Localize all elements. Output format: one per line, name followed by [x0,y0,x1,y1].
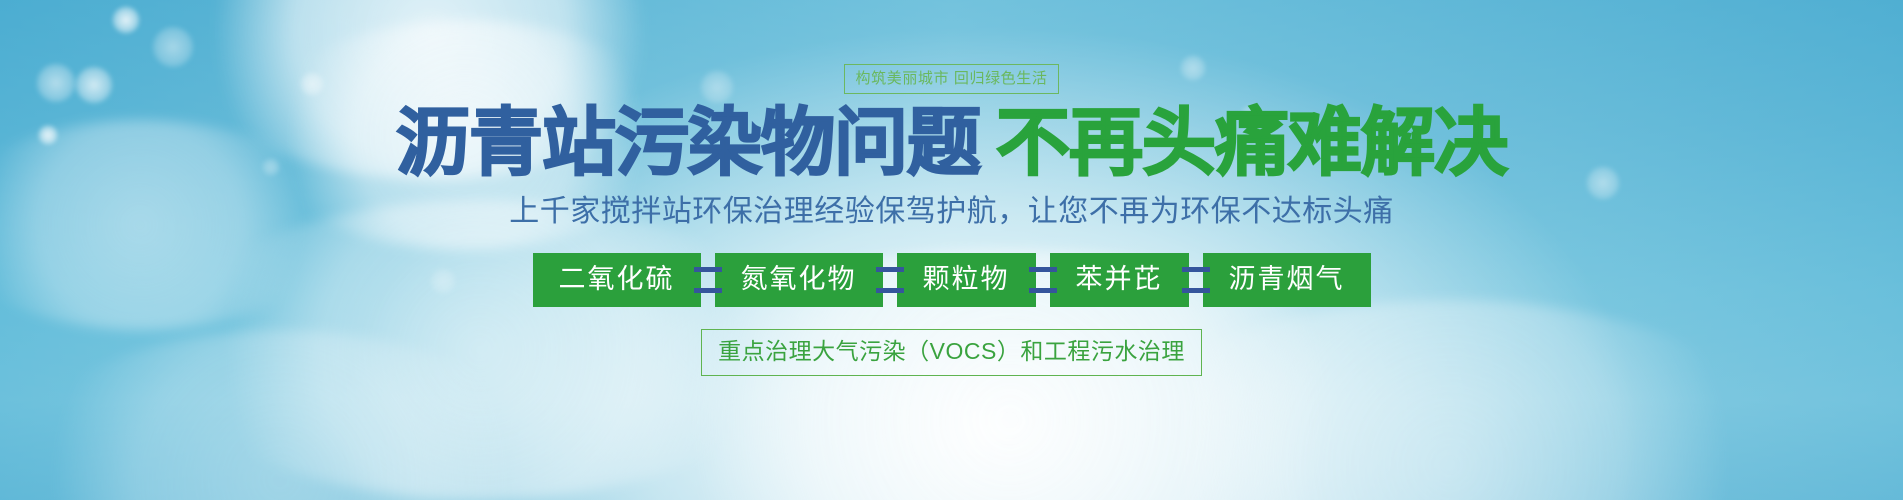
tag-item[interactable]: 苯并芘 [1050,253,1189,307]
headline-green-segment: 不再头痛难解决 [996,100,1507,186]
tag-item[interactable]: 氮氧化物 [715,253,883,307]
page-title: 沥青站污染物问题不再头痛难解决 [396,105,1507,182]
tag-separator [1189,253,1203,307]
pollutant-tag-strip: 二氧化硫 氮氧化物 颗粒物 苯并芘 沥青烟气 [533,253,1371,307]
tag-separator [1036,253,1050,307]
promo-banner: 构筑美丽城市 回归绿色生活 沥青站污染物问题不再头痛难解决 上千家搅拌站环保治理… [0,0,1903,500]
tag-separator [701,253,715,307]
tag-item[interactable]: 颗粒物 [897,253,1036,307]
banner-content: 构筑美丽城市 回归绿色生活 沥青站污染物问题不再头痛难解决 上千家搅拌站环保治理… [0,0,1903,500]
tag-item[interactable]: 二氧化硫 [533,253,701,307]
tag-separator [883,253,897,307]
footer-note-box: 重点治理大气污染（VOCS）和工程污水治理 [701,329,1202,376]
tag-item[interactable]: 沥青烟气 [1203,253,1371,307]
subtitle-text: 上千家搅拌站环保治理经验保驾护航，让您不再为环保不达标头痛 [509,195,1394,228]
headline-blue-segment: 沥青站污染物问题 [396,100,980,186]
tagline-badge: 构筑美丽城市 回归绿色生活 [844,64,1060,94]
